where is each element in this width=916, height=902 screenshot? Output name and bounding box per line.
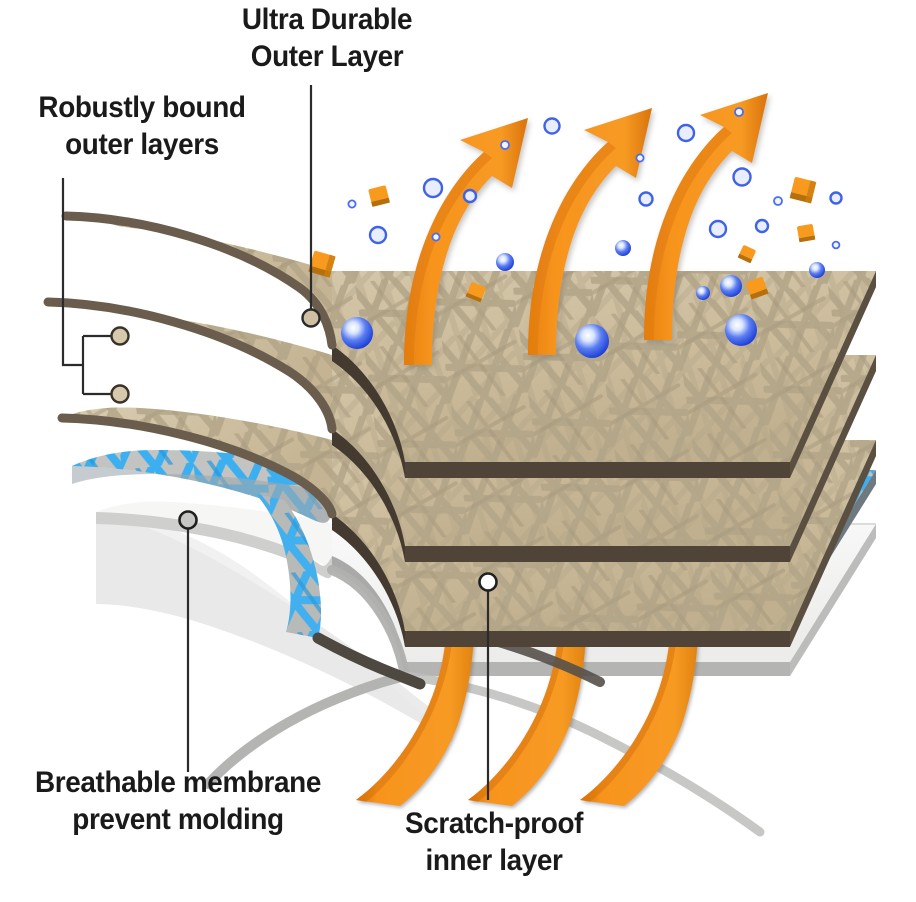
callout-scratch-proof-inner-layer: Scratch-proof inner layer bbox=[375, 806, 613, 879]
diagram-canvas: Ultra Durable Outer Layer Robustly bound… bbox=[0, 0, 916, 902]
callout-ultra-durable-outer-layer: Ultra Durable Outer Layer bbox=[205, 2, 449, 75]
callout-robustly-bound-outer-layers: Robustly bound outer layers bbox=[12, 90, 272, 163]
leader-robustly-bound bbox=[63, 178, 129, 403]
callout-breathable-membrane: Breathable membrane prevent molding bbox=[14, 765, 341, 838]
